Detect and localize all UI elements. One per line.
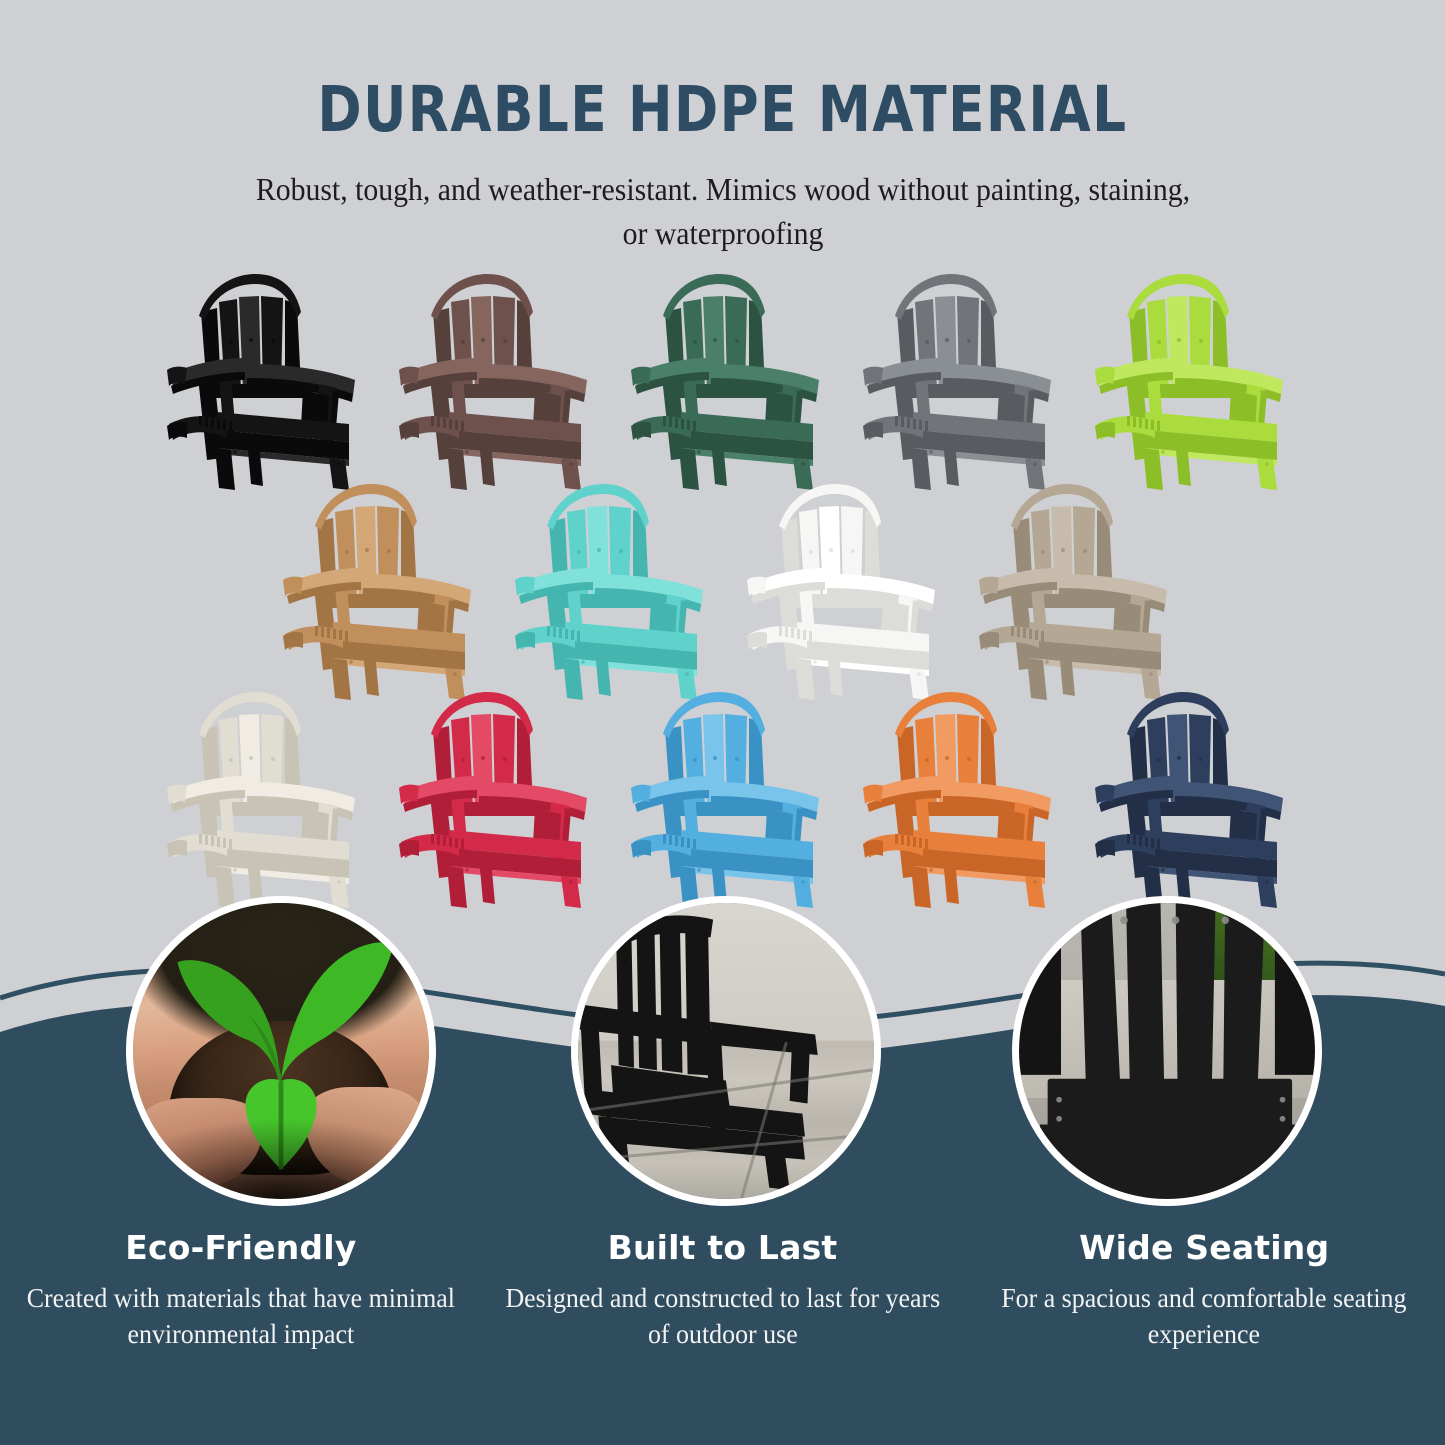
adirondack-chair-weathered-taupe xyxy=(955,482,1187,700)
feature-list: Eco-Friendly Created with materials that… xyxy=(0,1228,1445,1352)
chair-color-grid xyxy=(0,272,1445,912)
chair-swatch-white[interactable] xyxy=(723,482,955,700)
chair-illustration xyxy=(143,272,375,490)
photo-seat-closeup xyxy=(1019,903,1315,1199)
photo-black-chair-patio xyxy=(578,903,874,1199)
chair-illustration xyxy=(607,272,839,490)
feature-title: Eco-Friendly xyxy=(12,1228,470,1267)
chair-seat-closeup-silhouette xyxy=(1019,903,1315,1199)
adirondack-chair-orange xyxy=(839,690,1071,908)
adirondack-chair-ivory xyxy=(143,690,375,908)
adirondack-chair-brown xyxy=(375,272,607,490)
adirondack-chair-turquoise xyxy=(491,482,723,700)
page-title: DURABLE HDPE MATERIAL xyxy=(43,0,1401,141)
chair-swatch-turquoise[interactable] xyxy=(491,482,723,700)
chair-swatch-black[interactable] xyxy=(143,272,375,490)
chair-swatch-weathered-taupe[interactable] xyxy=(955,482,1187,700)
chair-illustration xyxy=(259,482,491,700)
chair-swatch-dark-green[interactable] xyxy=(607,272,839,490)
chair-swatch-ivory[interactable] xyxy=(143,690,375,908)
adirondack-chair-black xyxy=(143,272,375,490)
adirondack-chair-teak xyxy=(259,482,491,700)
photo-hands-seedling xyxy=(133,903,429,1199)
chair-swatch-red[interactable] xyxy=(375,690,607,908)
chair-swatch-orange[interactable] xyxy=(839,690,1071,908)
chair-illustration xyxy=(143,690,375,908)
chair-swatch-teak[interactable] xyxy=(259,482,491,700)
feature-photo-built-to-last xyxy=(571,896,881,1206)
chair-swatch-gray[interactable] xyxy=(839,272,1071,490)
feature-title: Built to Last xyxy=(494,1228,952,1267)
chair-row-2 xyxy=(0,482,1445,700)
chair-illustration xyxy=(839,272,1071,490)
feature-built-to-last: Built to Last Designed and constructed t… xyxy=(482,1228,964,1352)
feature-description: Designed and constructed to last for yea… xyxy=(503,1281,942,1352)
chair-illustration xyxy=(491,482,723,700)
chair-illustration xyxy=(607,690,839,908)
seat-closeup-background xyxy=(1019,903,1315,1199)
page-subtitle: Robust, tough, and weather-resistant. Mi… xyxy=(253,141,1192,255)
chair-swatch-navy-blue[interactable] xyxy=(1071,690,1303,908)
adirondack-chair-dark-green xyxy=(607,272,839,490)
chair-illustration xyxy=(375,690,607,908)
header: DURABLE HDPE MATERIAL Robust, tough, and… xyxy=(0,0,1445,255)
feature-description: Created with materials that have minimal… xyxy=(21,1281,460,1352)
feature-photo-circles xyxy=(0,896,1445,1216)
patio-background xyxy=(578,903,874,1199)
chair-illustration xyxy=(375,272,607,490)
adirondack-chair-white xyxy=(723,482,955,700)
chair-row-3 xyxy=(0,690,1445,908)
chair-illustration xyxy=(1071,272,1303,490)
adirondack-chair-red xyxy=(375,690,607,908)
feature-title: Wide Seating xyxy=(975,1228,1433,1267)
chair-swatch-light-blue[interactable] xyxy=(607,690,839,908)
chair-illustration xyxy=(1071,690,1303,908)
feature-eco-friendly: Eco-Friendly Created with materials that… xyxy=(0,1228,482,1352)
chair-swatch-lime-green[interactable] xyxy=(1071,272,1303,490)
adirondack-chair-lime-green xyxy=(1071,272,1303,490)
adirondack-chair-navy-blue xyxy=(1071,690,1303,908)
chair-illustration xyxy=(839,690,1071,908)
feature-photo-wide-seating xyxy=(1012,896,1322,1206)
photo-vignette xyxy=(133,903,429,1199)
hands-soil-background xyxy=(133,903,429,1199)
chair-swatch-brown[interactable] xyxy=(375,272,607,490)
adirondack-chair-light-blue xyxy=(607,690,839,908)
chair-row-1 xyxy=(0,272,1445,490)
product-infographic: DURABLE HDPE MATERIAL Robust, tough, and… xyxy=(0,0,1445,1445)
feature-description: For a spacious and comfortable seating e… xyxy=(984,1281,1423,1352)
feature-photo-eco-friendly xyxy=(126,896,436,1206)
feature-wide-seating: Wide Seating For a spacious and comforta… xyxy=(963,1228,1445,1352)
adirondack-chair-gray xyxy=(839,272,1071,490)
chair-illustration xyxy=(723,482,955,700)
chair-illustration xyxy=(955,482,1187,700)
